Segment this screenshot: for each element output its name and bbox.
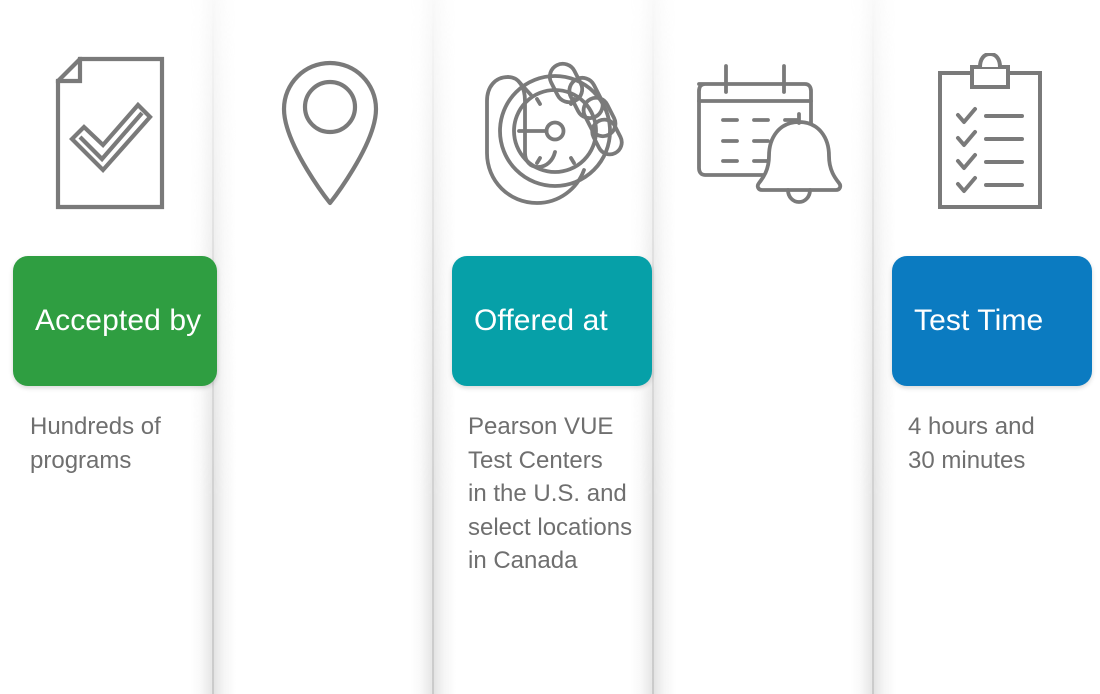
clipboard-checklist-icon bbox=[930, 53, 1050, 213]
icon-container bbox=[880, 40, 1100, 225]
document-check-icon bbox=[50, 53, 170, 213]
body-text-accepted-by: Hundreds of programs bbox=[30, 410, 161, 477]
location-pin-icon bbox=[278, 59, 382, 207]
banner-accepted-by: Accepted by bbox=[13, 256, 217, 386]
body-line: Hundreds of bbox=[30, 410, 161, 444]
icon-container bbox=[660, 40, 880, 225]
icon-container bbox=[220, 40, 440, 225]
infographic-root: Accepted by Hundreds of programs Offered… bbox=[0, 0, 1100, 694]
banner-label: Accepted by bbox=[35, 304, 201, 338]
icon-container bbox=[0, 40, 220, 225]
stopwatch-in-hand-icon bbox=[475, 55, 625, 210]
column-topics-include: Topics Include • Biomedical Sciences • C… bbox=[880, 0, 1100, 694]
body-line: programs bbox=[30, 444, 161, 478]
column-accepted-by: Accepted by Hundreds of programs bbox=[0, 0, 220, 694]
calendar-bell-icon bbox=[693, 58, 848, 208]
column-offered-at: Offered at Pearson VUE Test Centers in t… bbox=[220, 0, 440, 694]
column-test-time: Test Time 4 hours and 30 minutes bbox=[440, 0, 660, 694]
column-available: Available 3/1 until 8/31 bbox=[660, 0, 880, 694]
icon-container bbox=[440, 40, 660, 225]
